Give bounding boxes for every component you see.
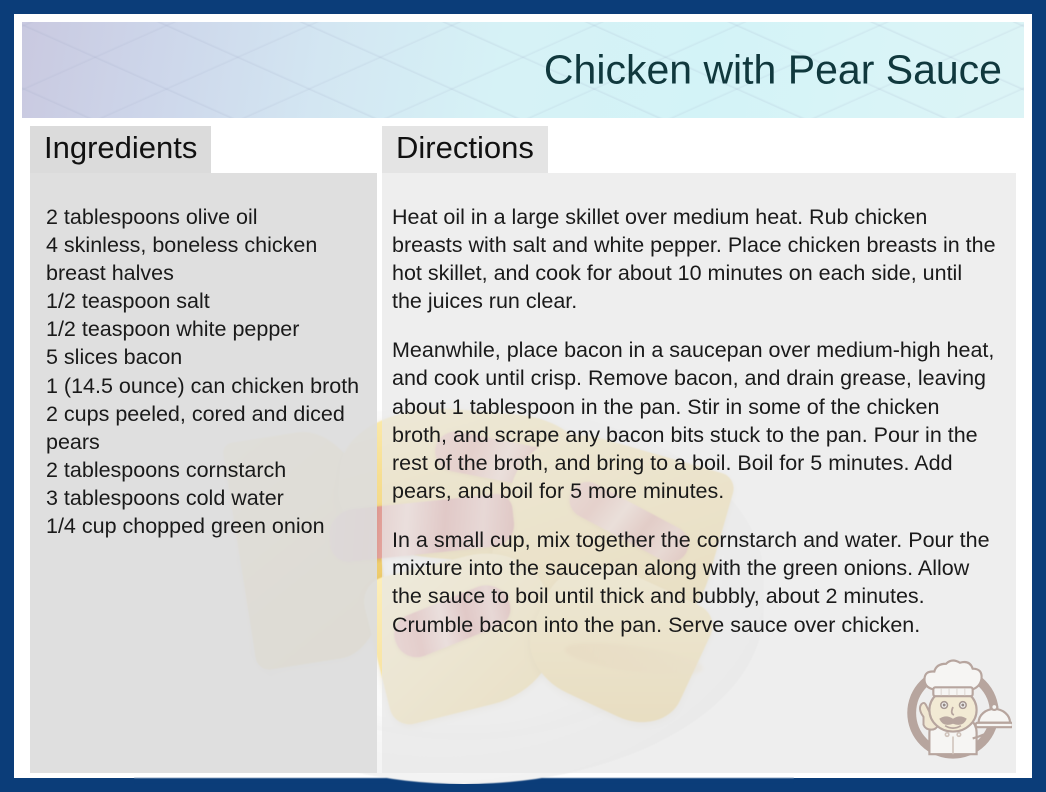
ingredients-body: 2 tablespoons olive oil 4 skinless, bone…: [30, 173, 377, 773]
content-panels: Ingredients 2 tablespoons olive oil 4 sk…: [22, 126, 1024, 770]
list-item: 3 tablespoons cold water: [46, 484, 361, 512]
page-title: Chicken with Pear Sauce: [544, 47, 1002, 94]
ingredients-panel: Ingredients 2 tablespoons olive oil 4 sk…: [30, 126, 377, 770]
recipe-card-page: Chicken with Pear Sauce Ingredients: [14, 14, 1032, 778]
list-item: 1/2 teaspoon white pepper: [46, 315, 361, 343]
list-item: 1/2 teaspoon salt: [46, 287, 361, 315]
list-item: 4 skinless, boneless chicken breast halv…: [46, 231, 361, 287]
recipe-card-frame: Chicken with Pear Sauce Ingredients: [0, 0, 1046, 792]
ingredients-heading: Ingredients: [30, 126, 211, 173]
directions-paragraph: Heat oil in a large skillet over medium …: [392, 203, 996, 316]
directions-heading: Directions: [382, 126, 548, 173]
header-banner: Chicken with Pear Sauce: [22, 22, 1024, 118]
ingredients-list: 2 tablespoons olive oil 4 skinless, bone…: [46, 203, 361, 541]
list-item: 1 (14.5 ounce) can chicken broth: [46, 372, 361, 400]
list-item: 2 cups peeled, cored and diced pears: [46, 400, 361, 456]
list-item: 2 tablespoons olive oil: [46, 203, 361, 231]
chef-mascot-logo-icon: [894, 648, 1012, 766]
list-item: 2 tablespoons cornstarch: [46, 456, 361, 484]
list-item: 1/4 cup chopped green onion: [46, 512, 361, 540]
directions-paragraph: Meanwhile, place bacon in a saucepan ove…: [392, 336, 996, 505]
list-item: 5 slices bacon: [46, 343, 361, 371]
directions-paragraph: In a small cup, mix together the cornsta…: [392, 526, 996, 639]
